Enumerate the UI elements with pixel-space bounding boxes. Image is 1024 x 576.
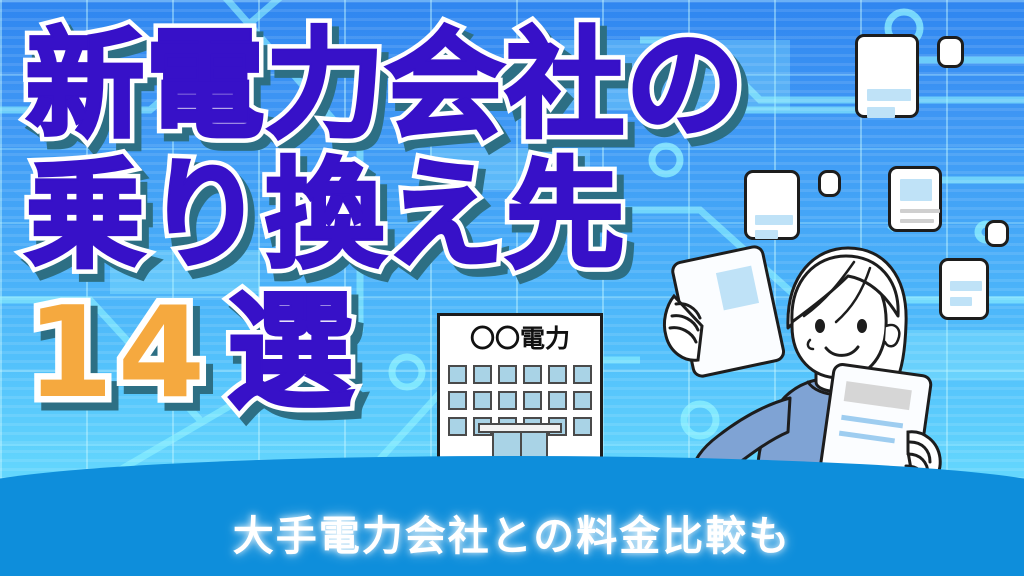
card-bar: [755, 215, 793, 225]
building-window: [548, 365, 567, 384]
power-company-building: 〇〇電力: [437, 313, 603, 465]
card-mid-right: [888, 166, 942, 232]
headline-line-2-text: 乗り換え先: [26, 146, 626, 284]
chip-mid: [818, 170, 841, 197]
building-sign-text: 〇〇電力: [437, 319, 603, 355]
chip-top-right: [937, 36, 964, 68]
card-bar: [867, 89, 911, 101]
headline-line-2: 乗り換え先 乗り換え先 乗り換え先 乗り換え先: [26, 156, 746, 274]
building-window: [473, 365, 492, 384]
headline-count-text: 14: [26, 279, 209, 426]
headline-line-1-text: 新電力会社の: [26, 16, 746, 154]
headline-suffix-group: 選 選 選 選: [227, 290, 357, 416]
building-window: [573, 417, 592, 436]
headline-line-3: 14 14 14 選 選 選 選: [26, 290, 746, 416]
card-bar: [900, 219, 934, 223]
card-bar: [900, 179, 932, 201]
card-bar: [867, 107, 895, 118]
card-top-right: [855, 34, 919, 118]
building-window: [448, 391, 467, 410]
headline-suffix-text: 選: [227, 279, 357, 426]
chip-right-low: [985, 220, 1009, 247]
card-bar: [900, 209, 940, 213]
building-window: [523, 391, 542, 410]
promo-banner-image: 新電力会社の 新電力会社の 新電力会社の 新電力会社の 乗り換え先 乗り換え先 …: [0, 0, 1024, 576]
building-window: [573, 391, 592, 410]
headline-line-1: 新電力会社の 新電力会社の 新電力会社の 新電力会社の: [26, 26, 746, 144]
building-window: [573, 365, 592, 384]
headline-block: 新電力会社の 新電力会社の 新電力会社の 新電力会社の 乗り換え先 乗り換え先 …: [26, 26, 746, 428]
building-window: [498, 391, 517, 410]
building-window: [448, 417, 467, 436]
building-window: [548, 391, 567, 410]
building-window: [498, 365, 517, 384]
bottom-banner-text: 大手電力会社との料金比較も: [0, 502, 1024, 562]
building-window: [448, 365, 467, 384]
building-window: [523, 365, 542, 384]
headline-count-group: 14 14 14: [26, 290, 209, 416]
building-window: [473, 391, 492, 410]
